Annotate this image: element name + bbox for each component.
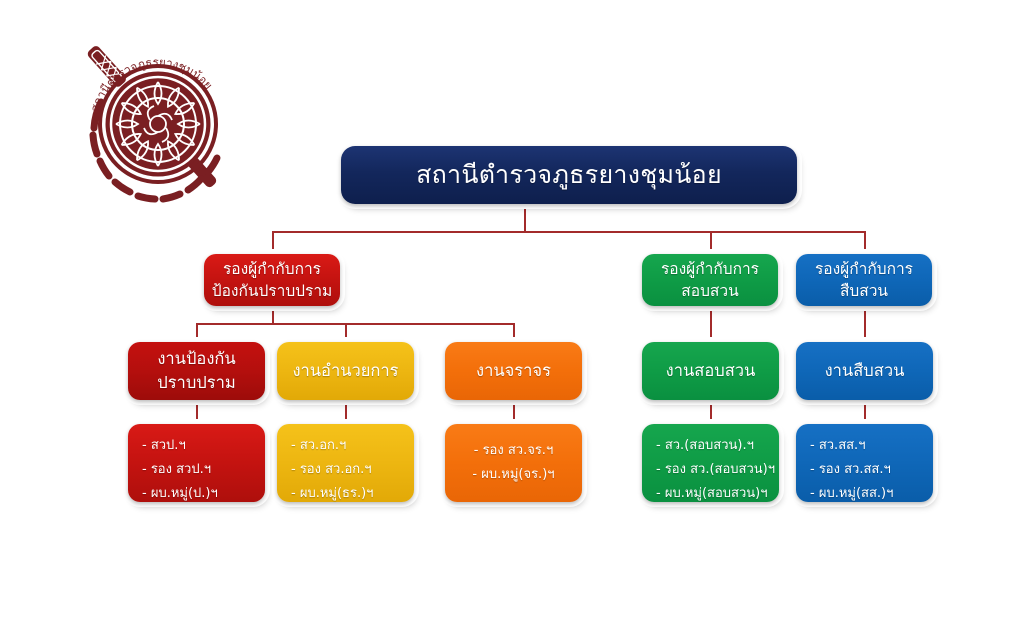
connector-to-division-admin bbox=[345, 323, 347, 342]
connector-to-deputy-inquiry bbox=[864, 231, 866, 254]
connector-level2-bus bbox=[196, 323, 514, 325]
deputy-prevention-line1: รองผู้กำกับการ bbox=[223, 260, 321, 278]
connector-division-inquiry-to-detail bbox=[864, 400, 866, 424]
deputy-inquiry-label: รองผู้กำกับการ สืบสวน bbox=[809, 258, 919, 303]
connector-deputy-inquiry-to-division bbox=[864, 306, 866, 342]
connector-to-deputy-investigation bbox=[710, 231, 712, 254]
detail-admin-row-2: - รอง สว.อก.ฯ bbox=[291, 458, 400, 482]
detail-traffic-row-1: - รอง สว.จร.ฯ bbox=[474, 439, 554, 463]
detail-prevention-row-2: - รอง สวป.ฯ bbox=[142, 458, 251, 482]
detail-node-inquiry[interactable]: - สว.สส.ฯ - รอง สว.สส.ฯ - ผบ.หมู่(สส.)ฯ bbox=[796, 424, 933, 502]
detail-node-admin[interactable]: - สว.อก.ฯ - รอง สว.อก.ฯ - ผบ.หมู่(ธร.)ฯ bbox=[277, 424, 414, 502]
detail-inquiry-row-3: - ผบ.หมู่(สส.)ฯ bbox=[810, 482, 919, 506]
deputy-inquiry-line1: รองผู้กำกับการ bbox=[815, 260, 913, 278]
division-traffic-label: งานจราจร bbox=[470, 359, 557, 383]
detail-inquiry-row-2: - รอง สว.สส.ฯ bbox=[810, 458, 919, 482]
deputy-investigation-line1: รองผู้กำกับการ bbox=[661, 260, 759, 278]
deputy-prevention-line2: ป้องกันปราบปราม bbox=[212, 282, 333, 300]
deputy-node-prevention[interactable]: รองผู้กำกับการ ป้องกันปราบปราม bbox=[204, 254, 340, 306]
connector-level1-bus bbox=[272, 231, 866, 233]
division-prevention-line1: งานป้องกัน bbox=[157, 349, 235, 368]
connector-to-deputy-prevention bbox=[272, 231, 274, 254]
detail-prevention-row-3: - ผบ.หมู่(ป.)ฯ bbox=[142, 482, 251, 506]
connector-to-division-traffic bbox=[513, 323, 515, 342]
deputy-node-investigation[interactable]: รองผู้กำกับการ สอบสวน bbox=[642, 254, 778, 306]
deputy-node-inquiry[interactable]: รองผู้กำกับการ สืบสวน bbox=[796, 254, 932, 306]
deputy-prevention-label: รองผู้กำกับการ ป้องกันปราบปราม bbox=[206, 258, 339, 303]
division-node-inquiry[interactable]: งานสืบสวน bbox=[796, 342, 933, 400]
root-node-label: สถานีตำรวจภูธรยางชุมน้อย bbox=[410, 157, 728, 193]
division-inquiry-label: งานสืบสวน bbox=[819, 359, 911, 383]
connector-division-admin-to-detail bbox=[345, 400, 347, 424]
root-node-police-station[interactable]: สถานีตำรวจภูธรยางชุมน้อย bbox=[341, 146, 797, 204]
division-investigation-label: งานสอบสวน bbox=[660, 359, 762, 383]
detail-prevention-row-1: - สวป.ฯ bbox=[142, 434, 251, 458]
org-chart-canvas: สถานีตำรวจภูธรยางชุมน้อย สถานีตำรวจภูธรย… bbox=[0, 0, 1024, 631]
detail-investigation-row-3: - ผบ.หมู่(สอบสวน)ฯ bbox=[656, 482, 765, 506]
detail-traffic-row-2: - ผบ.หมู่(จร.)ฯ bbox=[472, 463, 554, 487]
connector-division-prevention-to-detail bbox=[196, 400, 198, 424]
detail-admin-row-1: - สว.อก.ฯ bbox=[291, 434, 400, 458]
deputy-investigation-label: รองผู้กำกับการ สอบสวน bbox=[655, 258, 765, 303]
connector-root-stem bbox=[524, 204, 526, 232]
division-node-traffic[interactable]: งานจราจร bbox=[445, 342, 582, 400]
detail-node-prevention[interactable]: - สวป.ฯ - รอง สวป.ฯ - ผบ.หมู่(ป.)ฯ bbox=[128, 424, 265, 502]
deputy-inquiry-line2: สืบสวน bbox=[840, 282, 888, 300]
connector-division-traffic-to-detail bbox=[513, 400, 515, 424]
connector-division-investigation-to-detail bbox=[710, 400, 712, 424]
connector-to-division-prevention bbox=[196, 323, 198, 342]
division-prevention-line2: ปราบปราม bbox=[157, 373, 236, 392]
division-node-admin[interactable]: งานอำนวยการ bbox=[277, 342, 414, 400]
detail-node-investigation[interactable]: - สว.(สอบสวน).ฯ - รอง สว.(สอบสวน)ฯ - ผบ.… bbox=[642, 424, 779, 502]
detail-admin-row-3: - ผบ.หมู่(ธร.)ฯ bbox=[291, 482, 400, 506]
division-prevention-label: งานป้องกัน ปราบปราม bbox=[151, 347, 242, 395]
connector-deputy-prevention-stem bbox=[272, 306, 274, 324]
detail-investigation-row-2: - รอง สว.(สอบสวน)ฯ bbox=[656, 458, 765, 482]
division-node-investigation[interactable]: งานสอบสวน bbox=[642, 342, 779, 400]
detail-inquiry-row-1: - สว.สส.ฯ bbox=[810, 434, 919, 458]
division-admin-label: งานอำนวยการ bbox=[286, 359, 404, 383]
detail-investigation-row-1: - สว.(สอบสวน).ฯ bbox=[656, 434, 765, 458]
detail-node-traffic[interactable]: - รอง สว.จร.ฯ - ผบ.หมู่(จร.)ฯ bbox=[445, 424, 582, 502]
division-node-prevention[interactable]: งานป้องกัน ปราบปราม bbox=[128, 342, 265, 400]
deputy-investigation-line2: สอบสวน bbox=[681, 282, 738, 300]
police-seal-emblem: สถานีตำรวจภูธรยางชุมน้อย bbox=[68, 32, 248, 204]
connector-deputy-investigation-to-division bbox=[710, 306, 712, 342]
